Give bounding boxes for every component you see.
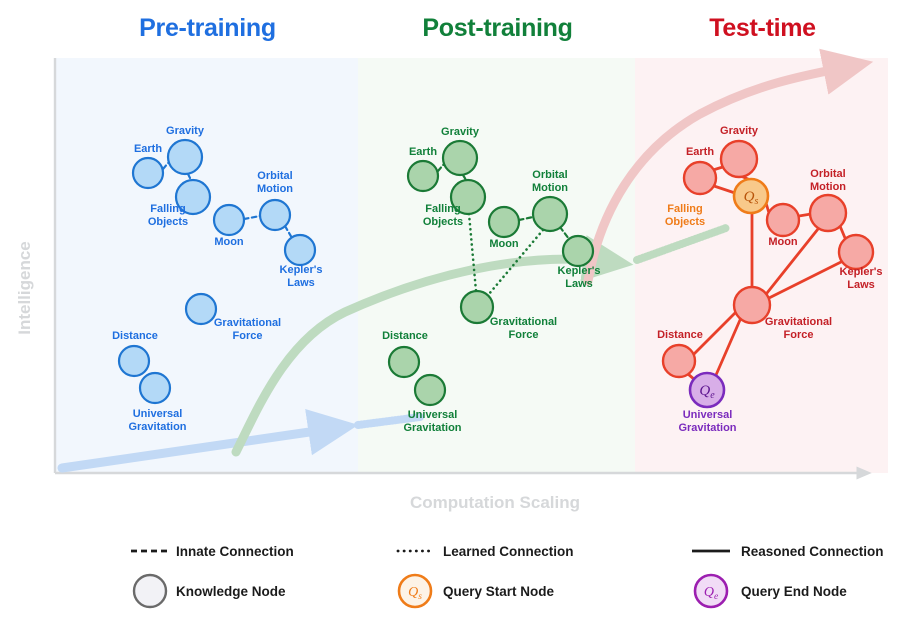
node-gravitational-force[interactable] (461, 291, 493, 323)
y-axis-label: Intelligence (15, 228, 35, 348)
legend-label-learned: Learned Connection (443, 544, 574, 559)
diagram-svg: Qs Qe Qs Qe (0, 0, 921, 620)
legend-label-query-end-node: Query End Node (741, 584, 847, 599)
node-distance[interactable] (119, 346, 149, 376)
legend-label-query-start-node: Query Start Node (443, 584, 554, 599)
node-orbital-motion[interactable] (260, 200, 290, 230)
node-gravitational-force[interactable] (734, 287, 770, 323)
node-earth[interactable] (684, 162, 716, 194)
node-universal-gravitation[interactable] (140, 373, 170, 403)
phase-title-testtime: Test-time (635, 14, 890, 43)
node-distance[interactable] (663, 345, 695, 377)
legend-knowledge-node-icon (134, 575, 166, 607)
node-moon[interactable] (214, 205, 244, 235)
node-keplers-laws[interactable] (285, 235, 315, 265)
node-gravity[interactable] (721, 141, 757, 177)
legend-label-knowledge-node: Knowledge Node (176, 584, 286, 599)
node-gravity[interactable] (443, 141, 477, 175)
panel-bg-pretraining (55, 58, 358, 473)
node-earth[interactable] (133, 158, 163, 188)
diagram-canvas: Qs Qe Qs Qe Pre-training Post-training T… (0, 0, 921, 620)
node-falling-objects[interactable] (451, 180, 485, 214)
node-keplers-laws[interactable] (839, 235, 873, 269)
node-universal-gravitation[interactable] (415, 375, 445, 405)
legend-label-reasoned: Reasoned Connection (741, 544, 884, 559)
node-keplers-laws[interactable] (563, 236, 593, 266)
phase-title-posttraining: Post-training (360, 14, 635, 43)
legend-label-innate: Innate Connection (176, 544, 294, 559)
node-gravity[interactable] (168, 140, 202, 174)
node-moon[interactable] (767, 204, 799, 236)
node-gravitational-force[interactable] (186, 294, 216, 324)
node-orbital-motion[interactable] (533, 197, 567, 231)
node-orbital-motion[interactable] (810, 195, 846, 231)
node-falling-objects[interactable] (176, 180, 210, 214)
phase-title-pretraining: Pre-training (55, 14, 360, 43)
node-distance[interactable] (389, 347, 419, 377)
x-axis-label: Computation Scaling (330, 493, 660, 513)
node-earth[interactable] (408, 161, 438, 191)
node-moon[interactable] (489, 207, 519, 237)
